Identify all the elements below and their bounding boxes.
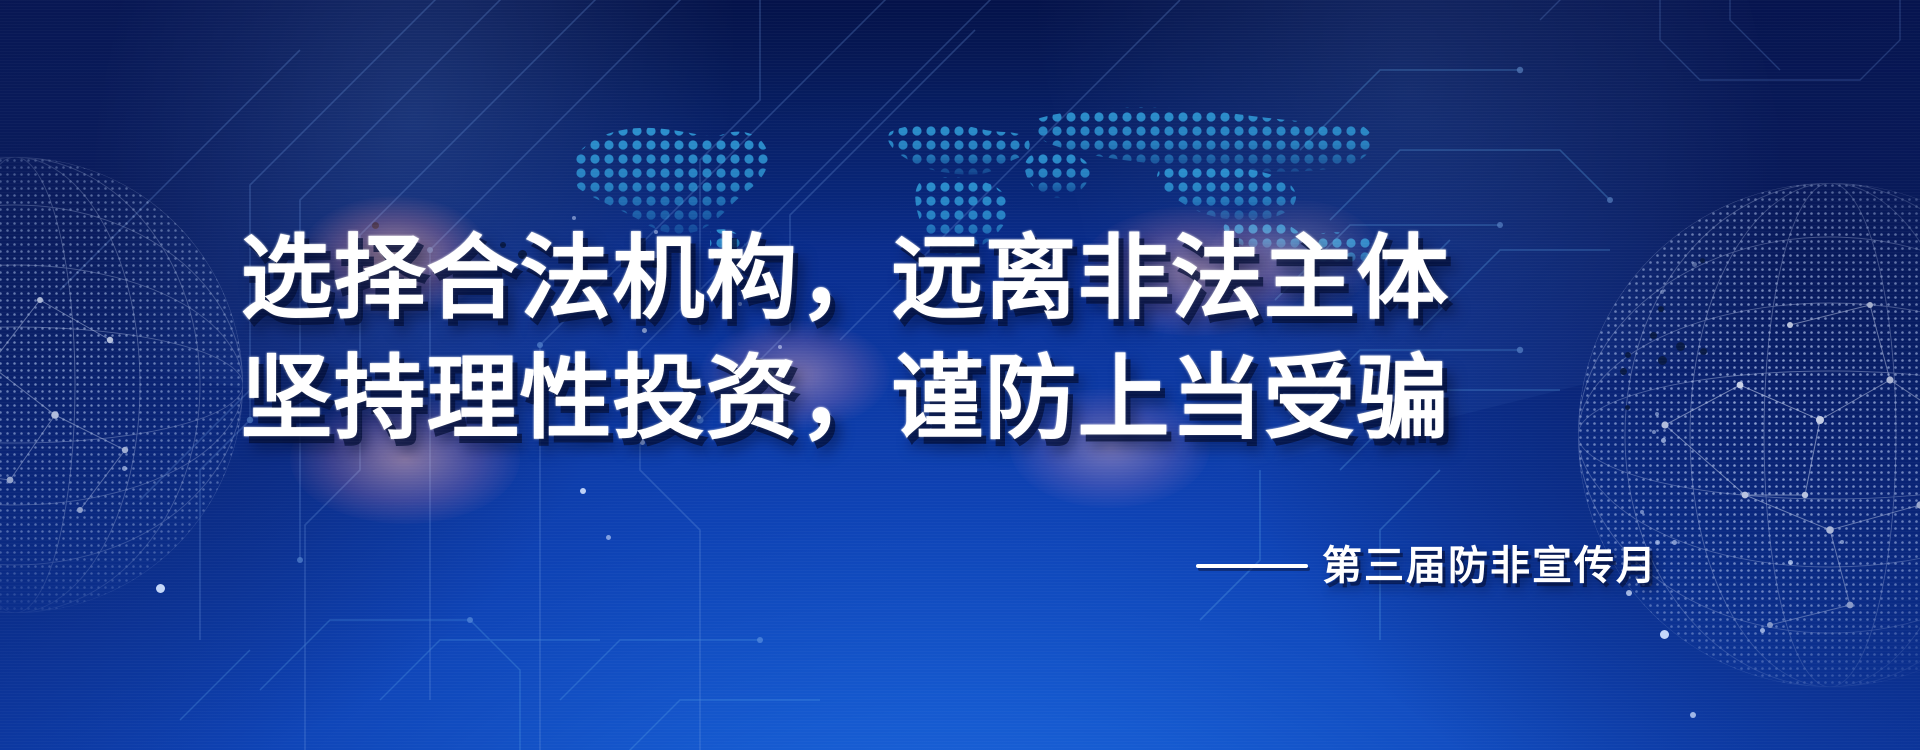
banner-canvas: 选择合法机构，远离非法主体 坚持理性投资，谨防上当受骗 第三届防非宣传月 bbox=[0, 0, 1920, 750]
scanline-overlay bbox=[0, 0, 1920, 750]
